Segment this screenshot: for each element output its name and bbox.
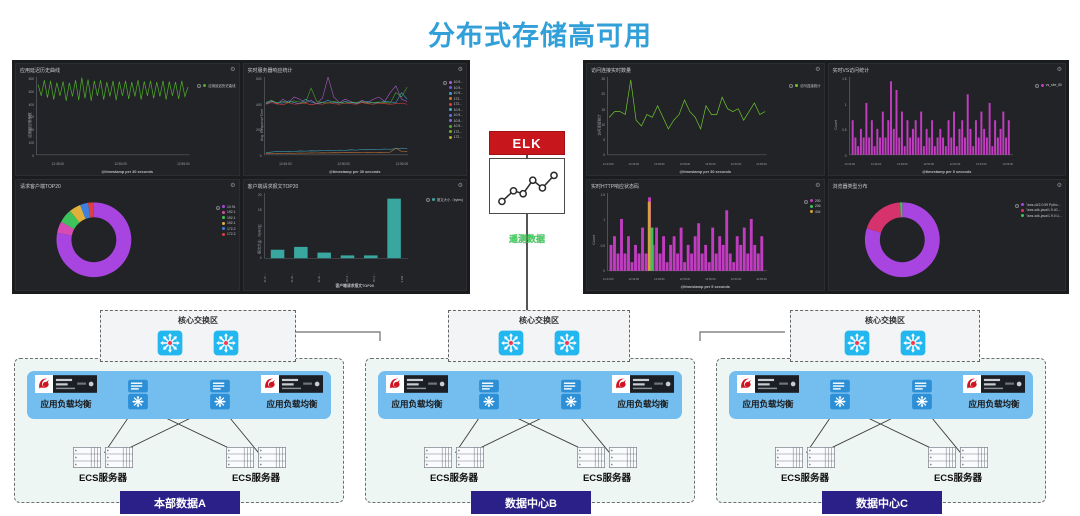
- legend-item[interactable]: 访问连接统计: [795, 83, 820, 88]
- legend-item[interactable]: 10.9...: [449, 108, 463, 112]
- panel-server-response[interactable]: 实时服务器响应统计 ⚙ Avg. ResponseTime 600 400 20…: [243, 63, 468, 176]
- elk-chart-icon: [489, 158, 565, 214]
- panel-app-latency-history[interactable]: 应用延迟历史曲线 ⚙ 应用延迟毫秒数 600 500 400 300 200 1…: [15, 63, 240, 176]
- x-tick: 12:46:00: [871, 163, 881, 166]
- legend-item[interactable]: 172.2: [222, 232, 236, 236]
- chart-legend: i 报文大小（bytes): [432, 197, 463, 202]
- panel-title: 客户端请求报文TOP20: [244, 180, 467, 191]
- lb-label: 应用负载均衡: [374, 398, 460, 410]
- ecs-label: ECS服务器: [552, 470, 662, 484]
- info-icon[interactable]: i: [197, 84, 201, 88]
- y-tick: 1: [845, 103, 847, 107]
- legend-item[interactable]: 172...: [449, 102, 463, 106]
- legend-swatch: [449, 125, 452, 128]
- legend-label: 192.1: [227, 210, 236, 214]
- left-dashboard: 应用延迟历史曲线 ⚙ 应用延迟毫秒数 600 500 400 300 200 1…: [12, 60, 470, 294]
- load-balancer-right[interactable]: 应用负载均衡: [951, 376, 1037, 410]
- y-tick: 20: [601, 92, 605, 96]
- legend-item[interactable]: 192.1: [222, 210, 236, 214]
- datacenter-badge: 本部数据A: [120, 491, 240, 514]
- legend-label: 172...: [454, 135, 462, 139]
- panel-client-request-size[interactable]: 客户端请求报文TOP20 ⚙ 报文大小（bytes) 20 15 10 5 0: [243, 179, 468, 292]
- y-tick: 0.5: [842, 128, 846, 132]
- legend-swatch: [222, 227, 225, 230]
- y-ticks: 600 400 200 0: [250, 77, 262, 158]
- server-rack-icon: [424, 447, 452, 467]
- legend-label: 10.9...: [454, 124, 463, 128]
- datacenter-a: 应用负载均衡 应用负载均衡 ECS服务器 ECS服务器 本部数据A: [14, 358, 344, 503]
- y-tick: 20: [258, 193, 262, 197]
- legend-swatch: [795, 84, 798, 87]
- y-ticks: 20 15 10 5 0: [250, 193, 262, 261]
- legend-item[interactable]: 10.91: [222, 205, 236, 209]
- x-tick: 12:48:00: [654, 278, 664, 281]
- x-tick: 12:45:00: [279, 162, 291, 166]
- panel-browser-distribution[interactable]: 浏览器类型分布 ⚙ i "aws-cli/2.0.59 Pytho..."aws…: [828, 179, 1067, 292]
- y-tick: 5: [603, 138, 605, 142]
- legend-swatch: [810, 199, 813, 202]
- y-tick: 10: [601, 123, 605, 127]
- ecs-label: ECS服务器: [903, 470, 1013, 484]
- x-axis-label: 客户端请求报文TOP20: [244, 284, 467, 289]
- legend-label: 404: [815, 210, 821, 214]
- legend-item[interactable]: 404: [810, 210, 821, 214]
- legend-swatch: [1041, 84, 1044, 87]
- load-balancer-right[interactable]: 应用负载均衡: [249, 376, 335, 410]
- network-switch-icon[interactable]: [213, 330, 239, 356]
- gear-icon[interactable]: ⚙: [815, 183, 820, 189]
- gear-icon[interactable]: ⚙: [1057, 67, 1062, 73]
- core-switch-zone-right: 核心交换区: [790, 310, 980, 362]
- y-tick: 0: [260, 154, 262, 158]
- legend-swatch: [222, 216, 225, 219]
- elk-connector-stem: [526, 214, 528, 312]
- datacenter-badge: 数据中心B: [471, 491, 591, 514]
- load-balancer-left[interactable]: 应用负载均衡: [23, 376, 109, 410]
- legend-item[interactable]: 应用延迟历史曲线: [203, 83, 235, 88]
- legend-label: 10.9...: [454, 91, 463, 95]
- server-rack-icon: [577, 447, 605, 467]
- x-tick: 12:56:00: [756, 163, 766, 166]
- x-tick: 3.108 ...: [401, 273, 404, 282]
- right-dashboard: 访问连接实时数量 ⚙ 访问连接统计 25 20 15 10 5 0: [583, 60, 1069, 294]
- y-tick: 0: [845, 154, 847, 158]
- y-tick: 400: [256, 103, 261, 107]
- x-tick: 12:50:00: [114, 162, 126, 166]
- y-tick: 1.5: [842, 77, 846, 81]
- legend-item[interactable]: 172...: [449, 135, 463, 139]
- x-tick: 12:50:00: [923, 163, 933, 166]
- lb-appliance-icon: [404, 375, 448, 398]
- lb-label: 应用负载均衡: [249, 398, 335, 410]
- server-rack-icon: [960, 447, 988, 467]
- x-axis-label: @timestamp per 30 seconds: [16, 170, 239, 174]
- legend-swatch: [810, 205, 813, 208]
- x-tick: 21.67 ...: [264, 273, 267, 282]
- info-icon[interactable]: i: [426, 198, 430, 202]
- legend-label: vs_site_80: [1046, 83, 1062, 87]
- legend-label: 200: [815, 199, 821, 203]
- x-axis-label: @timestamp per 30 seconds: [244, 170, 467, 174]
- lb-appliance-icon: [755, 375, 799, 398]
- ecs-group-left: ECS服务器: [48, 447, 158, 484]
- y-tick: 15: [601, 108, 605, 112]
- legend-label: 172.2: [227, 232, 236, 236]
- panel-title: 应用延迟历史曲线: [16, 64, 239, 75]
- y-tick: 15: [258, 208, 262, 212]
- legend-swatch: [449, 103, 452, 106]
- legend-item[interactable]: 172.2: [222, 227, 236, 231]
- x-ticks: 12:44:00 12:46:00 12:48:00 12:50:00 12:5…: [845, 163, 1013, 166]
- chart-plot-area: [263, 77, 409, 158]
- x-ticks: 12:44:00 12:46:00 12:48:00 12:50:00 12:5…: [603, 163, 767, 166]
- x-tick: 12:44:00: [603, 278, 613, 281]
- info-icon[interactable]: i: [1015, 204, 1019, 208]
- y-ticks: 25 20 15 10 5 0: [593, 77, 605, 158]
- legend-label: 10.9...: [454, 86, 463, 90]
- legend-label: "aws-sdk-java/1.9.0 Li...: [1026, 214, 1062, 218]
- zone-title: 核心交换区: [101, 315, 295, 326]
- info-icon[interactable]: i: [1035, 84, 1039, 88]
- legend-item[interactable]: 10.9...: [449, 119, 463, 123]
- x-tick: 12:48:00: [897, 163, 907, 166]
- chart-legend: i 访问连接统计: [795, 83, 820, 88]
- ecs-label: ECS服务器: [750, 470, 860, 484]
- x-ticks: 12:45:00 12:50:00 12:55:00: [279, 162, 408, 166]
- datacenter-switch-icon[interactable]: [559, 379, 583, 409]
- x-ticks: 12:44:00 12:46:00 12:48:00 12:50:00 12:5…: [603, 278, 767, 281]
- datacenter-switch-icon[interactable]: [910, 379, 934, 409]
- legend-item[interactable]: vs_site_80: [1041, 83, 1062, 87]
- panel-title: 浏览器类型分布: [829, 180, 1066, 191]
- y-tick: 25: [601, 77, 605, 81]
- chart-plot-area: [606, 193, 767, 274]
- ecs-group-right: ECS服务器: [903, 447, 1013, 484]
- lb-logo-icon: [261, 375, 279, 398]
- legend-label: 10.9...: [454, 119, 463, 123]
- legend-swatch: [222, 211, 225, 214]
- y-ticks: 1.5 1 0.5 0: [835, 77, 847, 158]
- y-tick: 10: [258, 224, 262, 228]
- lb-appliance-icon: [981, 375, 1025, 398]
- chart-plot-area: [35, 77, 190, 158]
- lb-logo-icon: [35, 375, 53, 398]
- chart-legend: i 应用延迟历史曲线: [203, 83, 235, 88]
- legend-swatch: [449, 130, 452, 133]
- legend-label: 10.9...: [454, 80, 463, 84]
- legend-item[interactable]: "aws-sdk-java/1.9.0 Li...: [1021, 214, 1062, 218]
- gear-icon[interactable]: ⚙: [815, 67, 820, 73]
- legend-swatch: [1021, 209, 1024, 212]
- legend-swatch: [222, 222, 225, 225]
- y-tick: 200: [256, 128, 261, 132]
- x-tick: 12:56:00: [756, 278, 766, 281]
- x-tick: 12:52:00: [950, 163, 960, 166]
- x-axis-label: @timestamp per 30 seconds: [587, 170, 824, 174]
- panel-title: 实时服务器响应统计: [244, 64, 467, 75]
- chart-legend: i 10.9...10.9...10.9...172...172...10.9.…: [449, 80, 463, 139]
- gear-icon[interactable]: ⚙: [230, 67, 235, 73]
- server-rack-icon: [456, 447, 484, 467]
- legend-label: 访问连接统计: [800, 83, 820, 88]
- y-tick: 100: [29, 141, 34, 145]
- x-tick: 167.2 ...: [373, 273, 376, 282]
- x-ticks: 21.67 ... 21.20 ... 21.20 ... 167.4 ... …: [264, 273, 404, 282]
- datacenter-switch-icon[interactable]: [477, 379, 501, 409]
- network-switch-icon[interactable]: [157, 330, 183, 356]
- ecs-group-left: ECS服务器: [750, 447, 860, 484]
- legend-label: 报文大小（bytes): [437, 197, 463, 202]
- panel-title: 访问连接实时数量: [587, 64, 824, 75]
- lb-label: 应用负载均衡: [23, 398, 109, 410]
- x-tick: 167.4 ...: [346, 273, 349, 282]
- server-rack-icon: [928, 447, 956, 467]
- legend-item[interactable]: 10.9...: [449, 86, 463, 90]
- y-tick: 200: [29, 128, 34, 132]
- legend-swatch: [222, 233, 225, 236]
- info-icon[interactable]: i: [443, 81, 447, 85]
- legend-item[interactable]: 报文大小（bytes): [432, 197, 463, 202]
- legend-label: "aws-sdk-java/1.9.40 ...: [1026, 208, 1061, 212]
- x-axis-label: @timestamp per 5 seconds: [587, 285, 824, 289]
- x-axis-label: @timestamp per 5 seconds: [829, 170, 1066, 174]
- datacenter-switch-icon[interactable]: [126, 379, 150, 409]
- y-tick: 0.5: [601, 244, 605, 248]
- legend-swatch: [203, 84, 206, 87]
- legend-swatch: [432, 198, 435, 201]
- legend-label: 172.2: [227, 227, 236, 231]
- core-switch-zone-left: 核心交换区: [100, 310, 296, 362]
- x-tick: 12:46:00: [629, 163, 639, 166]
- chart-plot-area: [263, 193, 409, 261]
- y-tick: 400: [29, 103, 34, 107]
- load-balancer-left[interactable]: 应用负载均衡: [374, 376, 460, 410]
- legend-item[interactable]: 206: [810, 204, 821, 208]
- info-icon[interactable]: i: [216, 206, 220, 210]
- y-ticks: 1.5 1 0.5 0: [593, 193, 605, 274]
- legend-label: 10.9...: [454, 108, 463, 112]
- ecs-label: ECS服务器: [48, 470, 158, 484]
- legend-item[interactable]: 192.1: [222, 221, 236, 225]
- donut-chart: [829, 193, 976, 287]
- x-tick: 12:50:00: [337, 162, 349, 166]
- x-tick: 12:54:00: [731, 278, 741, 281]
- panel-title: 请求客户端TOP20: [16, 180, 239, 191]
- lb-logo-icon: [737, 375, 755, 398]
- panel-http-status-codes[interactable]: 实时HTTP响应状态码 ⚙ Count 1.5 1 0.5 0: [586, 179, 825, 292]
- chart-legend: i 10.91192.1192.1192.1172.2172.2: [222, 205, 236, 237]
- x-tick: 12:52:00: [705, 163, 715, 166]
- legend-label: 10.91: [227, 205, 236, 209]
- datacenter-badge: 数据中心C: [822, 491, 942, 514]
- donut-chart: [16, 193, 172, 287]
- zone-title: 核心交换区: [791, 315, 979, 326]
- y-tick: 600: [29, 77, 34, 81]
- legend-item[interactable]: 200: [810, 199, 821, 203]
- datacenter-switch-icon[interactable]: [208, 379, 232, 409]
- legend-label: "aws-cli/2.0.59 Pytho...: [1026, 203, 1060, 207]
- lb-appliance-icon: [630, 375, 674, 398]
- lb-label: 应用负载均衡: [600, 398, 686, 410]
- x-tick: 12:54:00: [976, 163, 986, 166]
- legend-item[interactable]: 172...: [449, 97, 463, 101]
- chart-legend: i 200206404: [810, 199, 821, 214]
- legend-label: 应用延迟历史曲线: [208, 83, 235, 88]
- x-tick: 12:50:00: [680, 163, 690, 166]
- telemetry-label: 遥测数据: [489, 232, 565, 245]
- y-tick: 1.5: [601, 193, 605, 197]
- lb-appliance-icon: [279, 375, 323, 398]
- panel-top-clients[interactable]: 请求客户端TOP20 ⚙ i 10.91192.1192.1192.1172.2…: [15, 179, 240, 292]
- gear-icon[interactable]: ⚙: [1057, 183, 1062, 189]
- x-tick: 12:44:00: [845, 163, 855, 166]
- x-tick: 12:54:00: [731, 163, 741, 166]
- load-balancer-left[interactable]: 应用负载均衡: [725, 376, 811, 410]
- y-tick: 500: [29, 90, 34, 94]
- ecs-group-left: ECS服务器: [399, 447, 509, 484]
- gear-icon[interactable]: ⚙: [458, 67, 463, 73]
- legend-item[interactable]: 172...: [449, 130, 463, 134]
- legend-label: 172...: [454, 97, 462, 101]
- ecs-label: ECS服务器: [399, 470, 509, 484]
- core-switch-zone-center: 核心交换区: [448, 310, 630, 362]
- legend-label: 192.1: [227, 216, 236, 220]
- server-rack-icon: [73, 447, 101, 467]
- y-tick: 5: [260, 240, 262, 244]
- datacenter-c: 应用负载均衡 应用负载均衡 ECS服务器 ECS服务器 数据中心C: [716, 358, 1046, 503]
- x-tick: 12:44:00: [603, 163, 613, 166]
- datacenter-b: 应用负载均衡 应用负载均衡 ECS服务器 ECS服务器 数据中心B: [365, 358, 695, 503]
- zone-title: 核心交换区: [449, 315, 629, 326]
- legend-label: 172...: [454, 130, 462, 134]
- network-switch-icon[interactable]: [844, 330, 870, 356]
- lb-logo-icon: [612, 375, 630, 398]
- ecs-group-right: ECS服务器: [552, 447, 662, 484]
- x-tick: 12:45:00: [52, 162, 64, 166]
- legend-item[interactable]: "aws-cli/2.0.59 Pytho...: [1021, 203, 1062, 207]
- info-icon[interactable]: i: [804, 200, 808, 204]
- panel-title: 实时VS访问统计: [829, 64, 1066, 75]
- legend-swatch: [449, 108, 452, 111]
- panel-vs-access-stats[interactable]: 实时VS访问统计 ⚙ Count 1.5 1 0.5 0: [828, 63, 1067, 176]
- network-switch-icon[interactable]: [554, 330, 580, 356]
- legend-label: 10.9...: [454, 113, 463, 117]
- legend-item[interactable]: 10.9...: [449, 91, 463, 95]
- legend-swatch: [1021, 203, 1024, 206]
- lb-label: 应用负载均衡: [725, 398, 811, 410]
- legend-label: 206: [815, 204, 821, 208]
- network-switch-icon[interactable]: [900, 330, 926, 356]
- y-tick: 0: [603, 269, 605, 273]
- ecs-label: ECS服务器: [201, 470, 311, 484]
- lb-logo-icon: [386, 375, 404, 398]
- ecs-group-right: ECS服务器: [201, 447, 311, 484]
- legend-label: 172...: [454, 102, 462, 106]
- lb-label: 应用负载均衡: [951, 398, 1037, 410]
- chart-legend: i vs_site_80: [1041, 83, 1062, 87]
- legend-swatch: [449, 92, 452, 95]
- legend-swatch: [449, 114, 452, 117]
- x-ticks: 12:45:00 12:50:00 12:55:00: [52, 162, 190, 166]
- server-rack-icon: [226, 447, 254, 467]
- chart-plot-area: [848, 77, 1013, 158]
- server-rack-icon: [807, 447, 835, 467]
- legend-swatch: [1021, 214, 1024, 217]
- legend-swatch: [810, 210, 813, 213]
- chart-plot-area: [606, 77, 767, 158]
- legend-swatch: [449, 81, 452, 84]
- x-tick: 12:46:00: [629, 278, 639, 281]
- y-tick: 600: [256, 77, 261, 81]
- legend-swatch: [449, 119, 452, 122]
- panel-title: 实时HTTP响应状态码: [587, 180, 824, 191]
- x-tick: 12:55:00: [177, 162, 189, 166]
- gear-icon[interactable]: ⚙: [458, 183, 463, 189]
- chart-legend: i "aws-cli/2.0.59 Pytho..."aws-sdk-java/…: [1021, 203, 1062, 218]
- legend-swatch: [449, 97, 452, 100]
- load-balancer-right[interactable]: 应用负载均衡: [600, 376, 686, 410]
- lb-logo-icon: [963, 375, 981, 398]
- y-tick: 1: [603, 218, 605, 222]
- legend-item[interactable]: "aws-sdk-java/1.9.40 ...: [1021, 208, 1062, 212]
- server-rack-icon: [775, 447, 803, 467]
- datacenter-switch-icon[interactable]: [828, 379, 852, 409]
- lb-appliance-icon: [53, 375, 97, 398]
- server-rack-icon: [609, 447, 637, 467]
- x-tick: 12:48:00: [654, 163, 664, 166]
- legend-item[interactable]: 10.9...: [449, 80, 463, 84]
- legend-item[interactable]: 10.9...: [449, 124, 463, 128]
- x-tick: 12:56:00: [1002, 163, 1012, 166]
- y-tick: 0: [32, 154, 34, 158]
- gear-icon[interactable]: ⚙: [230, 183, 235, 189]
- y-tick: 0: [260, 256, 262, 260]
- server-rack-icon: [105, 447, 133, 467]
- x-tick: 21.20 ...: [318, 273, 321, 282]
- elk-badge[interactable]: ELK: [489, 131, 565, 155]
- legend-swatch: [449, 136, 452, 139]
- y-tick: 300: [29, 115, 34, 119]
- legend-item[interactable]: 10.9...: [449, 113, 463, 117]
- legend-label: 192.1: [227, 221, 236, 225]
- panel-connections-realtime[interactable]: 访问连接实时数量 ⚙ 访问连接统计 25 20 15 10 5 0: [586, 63, 825, 176]
- x-tick: 12:55:00: [396, 162, 408, 166]
- legend-swatch: [222, 205, 225, 208]
- legend-item[interactable]: 192.1: [222, 216, 236, 220]
- server-rack-icon: [258, 447, 286, 467]
- y-tick: 0: [603, 153, 605, 157]
- network-switch-icon[interactable]: [498, 330, 524, 356]
- x-tick: 21.20 ...: [291, 273, 294, 282]
- page-title: 分布式存储高可用: [0, 14, 1080, 53]
- x-tick: 12:52:00: [705, 278, 715, 281]
- x-tick: 12:50:00: [680, 278, 690, 281]
- y-ticks: 600 500 400 300 200 100 0: [22, 77, 34, 158]
- info-icon[interactable]: i: [789, 84, 793, 88]
- legend-swatch: [449, 86, 452, 89]
